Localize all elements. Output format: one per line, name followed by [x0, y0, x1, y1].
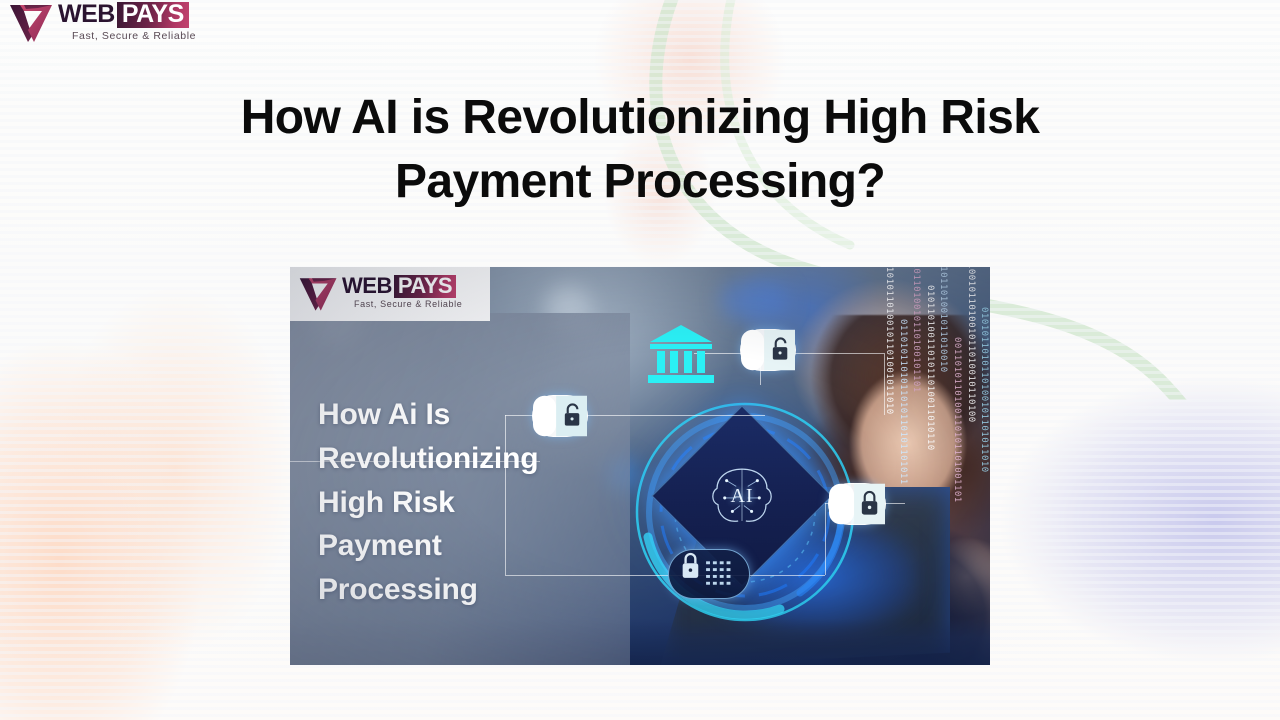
- ai-brain-chip-icon: AI: [688, 442, 796, 550]
- featured-brand-tagline: Fast, Secure & Reliable: [354, 299, 462, 309]
- featured-image-logo: WEB PAYS Fast, Secure & Reliable: [290, 267, 490, 321]
- connector-wire: [825, 503, 826, 575]
- connector-wire: [884, 353, 885, 415]
- featured-brand-wordmark: WEB PAYS Fast, Secure & Reliable: [342, 273, 462, 309]
- featured-brand-name-pays: PAYS: [394, 275, 456, 298]
- padlock-open-icon-top-right: [740, 329, 796, 371]
- brand-name-pays: PAYS: [117, 2, 189, 28]
- ai-chip-label: AI: [730, 485, 753, 508]
- featured-article-image[interactable]: WEB PAYS Fast, Secure & Reliable How Ai …: [290, 267, 990, 665]
- padlock-keypad-icon-bottom: [668, 549, 750, 599]
- brand-name-web: WEB: [58, 2, 115, 27]
- overlay-headline-line: Revolutionizing: [318, 437, 618, 481]
- connector-wire: [505, 575, 825, 576]
- brand-tagline: Fast, Secure & Reliable: [72, 30, 196, 42]
- site-logo[interactable]: WEB PAYS Fast, Secure & Reliable: [8, 0, 178, 52]
- overlay-headline-line: Payment: [318, 524, 618, 568]
- webpays-v-logo-icon: [298, 275, 340, 313]
- brand-wordmark: WEB PAYS Fast, Secure & Reliable: [58, 0, 196, 42]
- padlock-closed-icon-right: [828, 483, 886, 525]
- padlock-open-icon-top-left: [532, 395, 588, 437]
- page-title: How AI is Revolutionizing High Risk Paym…: [140, 86, 1140, 214]
- bank-building-icon: [648, 323, 714, 385]
- featured-brand-name-web: WEB: [342, 275, 392, 297]
- connector-wire: [505, 415, 506, 575]
- webpays-v-logo-icon: [8, 2, 56, 44]
- overlay-headline-line: High Risk: [318, 481, 618, 525]
